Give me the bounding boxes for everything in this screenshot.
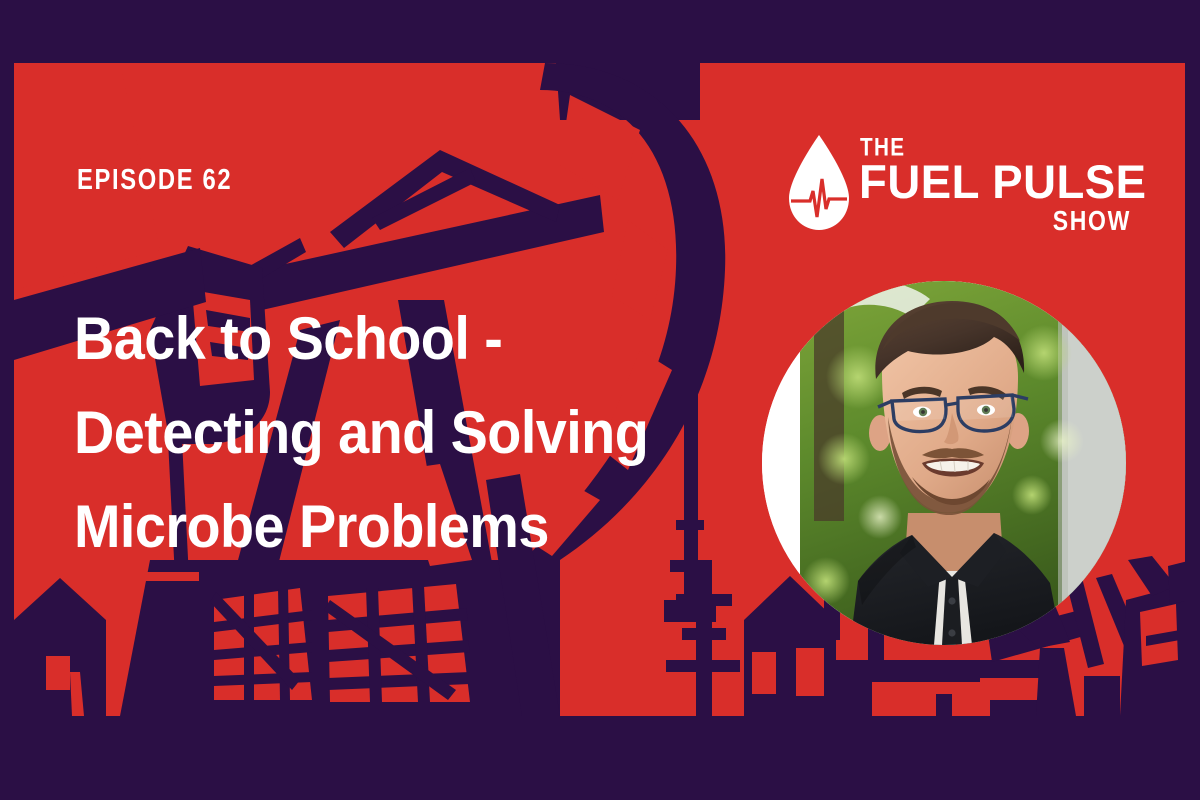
logo-show: SHOW [1053, 208, 1131, 236]
host-portrait-circle [762, 281, 1126, 645]
episode-label: EPISODE 62 [77, 166, 232, 195]
title-line-3: Microbe Problems [74, 480, 725, 574]
episode-title: Back to School - Detecting and Solving M… [74, 292, 725, 574]
episode-cover-canvas: EPISODE 62 Back to School - Detecting an… [0, 0, 1200, 800]
fuel-pulse-show-logo: THE FUEL PULSE SHOW [786, 131, 1131, 237]
title-line-2: Detecting and Solving [74, 386, 725, 480]
red-accent-bar [74, 572, 199, 581]
title-line-1: Back to School - [74, 292, 725, 386]
fuel-droplet-pulse-icon [786, 133, 852, 233]
host-portrait [762, 281, 1126, 645]
logo-wordmark: THE FUEL PULSE SHOW [859, 131, 1131, 237]
logo-fuel-pulse: FUEL PULSE [859, 158, 1147, 205]
